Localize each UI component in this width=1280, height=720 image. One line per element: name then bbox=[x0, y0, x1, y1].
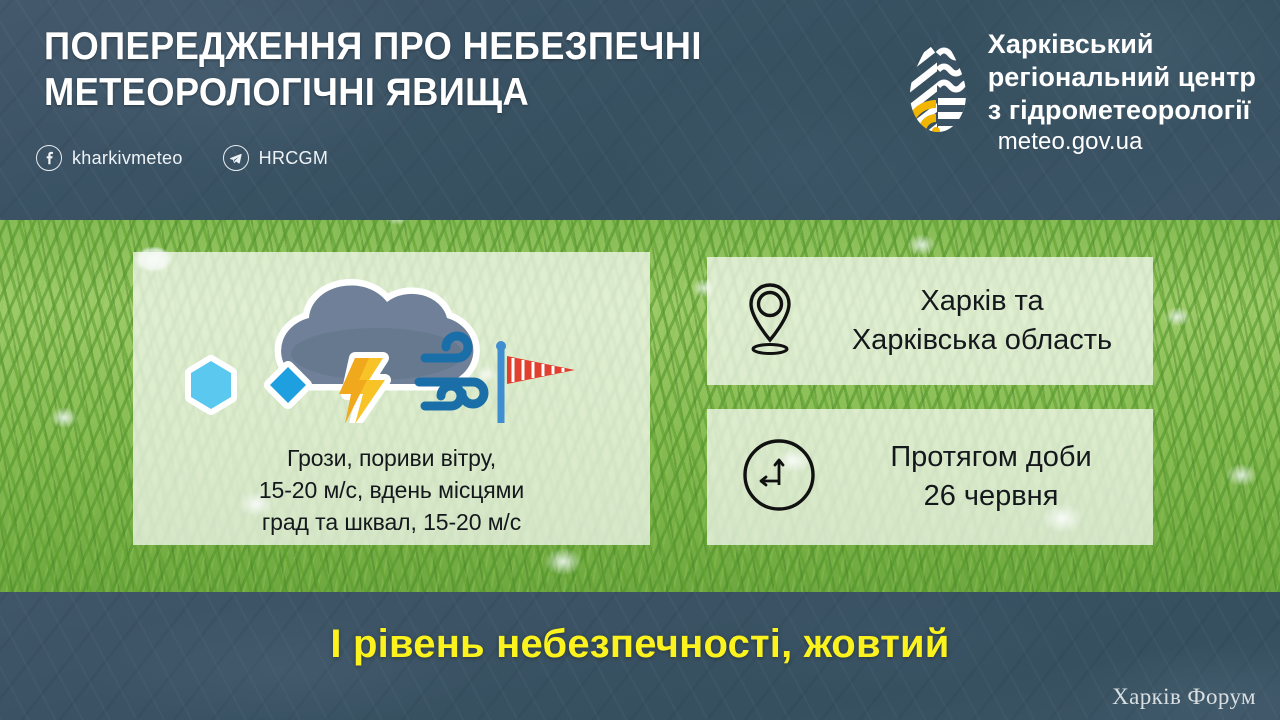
location-text: Харків та Харківська область bbox=[825, 282, 1153, 360]
social-label-facebook: kharkivmeteo bbox=[72, 148, 183, 169]
time-period-line-2: 26 червня bbox=[843, 477, 1139, 516]
organization-name-line-3: з гідрометеорології bbox=[988, 94, 1256, 127]
organization-name-line-1: Харківський bbox=[988, 28, 1256, 61]
weather-description: Грози, пориви вітру, 15-20 м/с, вдень мі… bbox=[133, 442, 650, 538]
weather-phenomena-panel: Грози, пориви вітру, 15-20 м/с, вдень мі… bbox=[133, 252, 650, 545]
social-link-telegram[interactable]: HRCGM bbox=[223, 145, 329, 171]
time-period-line-1: Протягом доби bbox=[843, 438, 1139, 477]
social-label-telegram: HRCGM bbox=[259, 148, 329, 169]
organization-name-line-2: регіональний центр bbox=[988, 61, 1256, 94]
page-title-line-2: МЕТЕОРОЛОГІЧНІ ЯВИЩА bbox=[44, 70, 751, 116]
social-links: kharkivmeteo HRCGM bbox=[36, 145, 328, 171]
organization-website[interactable]: meteo.gov.ua bbox=[998, 127, 1256, 157]
weather-description-line-1: Грози, пориви вітру, bbox=[133, 442, 650, 474]
watermark: Харків Форум bbox=[1112, 684, 1256, 710]
page-title-line-1: ПОПЕРЕДЖЕННЯ ПРО НЕБЕЗПЕЧНІ bbox=[44, 24, 751, 70]
location-panel: Харків та Харківська область bbox=[707, 257, 1153, 385]
weather-icon-group bbox=[133, 278, 650, 423]
map-pin-icon bbox=[741, 279, 799, 364]
organization-name: Харківський регіональний центр з гідроме… bbox=[988, 28, 1256, 157]
danger-level-text: І рівень небезпечності, жовтий bbox=[0, 622, 1280, 667]
time-period-text: Протягом доби 26 червня bbox=[843, 438, 1153, 516]
water-droplet-logo-icon bbox=[902, 28, 974, 141]
clock-icon bbox=[741, 437, 817, 518]
location-line-2: Харківська область bbox=[825, 321, 1139, 360]
location-line-1: Харків та bbox=[825, 282, 1139, 321]
facebook-icon bbox=[36, 145, 62, 171]
infographic-canvas: ПОПЕРЕДЖЕННЯ ПРО НЕБЕЗПЕЧНІ МЕТЕОРОЛОГІЧ… bbox=[0, 0, 1280, 720]
weather-description-line-3: град та шквал, 15-20 м/с bbox=[133, 506, 650, 538]
page-title: ПОПЕРЕДЖЕННЯ ПРО НЕБЕЗПЕЧНІ МЕТЕОРОЛОГІЧ… bbox=[44, 24, 751, 116]
social-link-facebook[interactable]: kharkivmeteo bbox=[36, 145, 183, 171]
organization-logo[interactable]: Харківський регіональний центр з гідроме… bbox=[902, 28, 1256, 157]
weather-description-line-2: 15-20 м/с, вдень місцями bbox=[133, 474, 650, 506]
time-period-panel: Протягом доби 26 червня bbox=[707, 409, 1153, 545]
telegram-icon bbox=[223, 145, 249, 171]
